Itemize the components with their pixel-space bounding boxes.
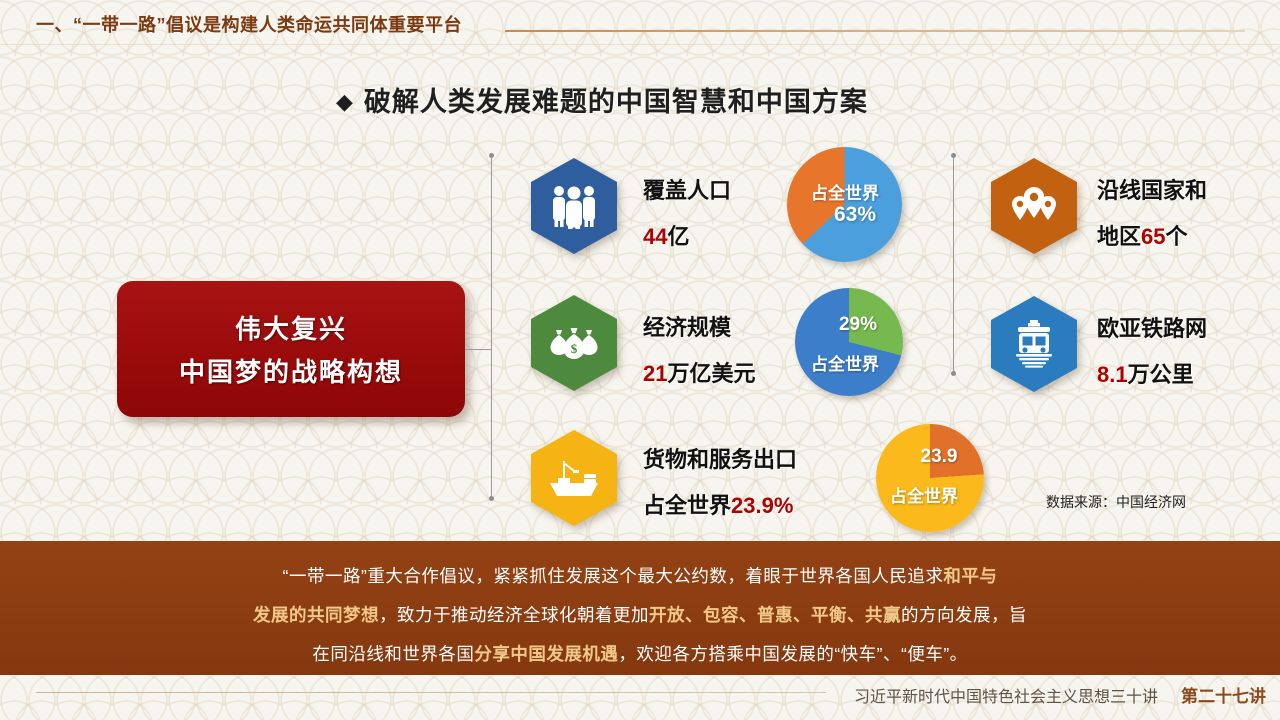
hexagon-badge: [991, 296, 1077, 392]
banner-text-plain: 在同沿线和世界各国: [312, 644, 474, 664]
banner-text-highlight: 发展的共同梦想: [253, 605, 379, 625]
connector-card-to-spine: [465, 349, 491, 350]
stat-label-line1: 经济规模: [643, 310, 756, 342]
banner-line-3: 在同沿线和世界各国分享中国发展机遇，欢迎各方搭乘中国发展的“快车”、“便车”。: [0, 635, 1280, 674]
svg-text:$: $: [571, 341, 578, 356]
stat-suffix: 个: [1166, 224, 1188, 249]
train-icon: [991, 296, 1077, 392]
footer-divider: [36, 692, 826, 693]
stat-label-line2: 21万亿美元: [643, 356, 756, 388]
connector-dot-bottom-right: [951, 371, 956, 376]
stat-label-line1: 欧亚铁路网: [1097, 311, 1207, 343]
connector-right-spine: [953, 155, 954, 375]
location-pins-icon: [991, 158, 1077, 254]
money-bags-icon: $: [531, 295, 617, 391]
summary-banner: “一带一路”重大合作倡议，紧紧抓住发展这个最大公约数，着眼于世界各国人民追求和平…: [0, 541, 1280, 675]
banner-text-plain: ，致力于推动经济全球化朝着更加: [379, 605, 649, 625]
stat-suffix: 万亿美元: [667, 361, 755, 386]
pie-value-label: 23.9: [904, 446, 974, 468]
banner-text-plain: ，欢迎各方搭乘中国发展的“快车”、“便车”。: [618, 644, 967, 664]
stat-prefix: 地区: [1097, 224, 1141, 249]
hexagon-badge: [531, 158, 617, 254]
strategy-card-line1: 伟大复兴: [235, 309, 347, 346]
stat-suffix: 万公里: [1128, 362, 1194, 387]
pie-chart-exports: 23.9 占全世界: [876, 424, 984, 532]
pie-value-label: 63%: [811, 203, 899, 227]
pie-name-label: 占全世界: [880, 482, 968, 507]
slide-header: 一、“一带一路”倡议是构建人类命运共同体重要平台: [0, 0, 1280, 46]
banner-text-plain: “一带一路”重大合作倡议，紧紧抓住发展这个最大公约数，着眼于世界各国人民追求: [283, 566, 944, 586]
pie-value-label: 29%: [821, 314, 895, 336]
strategy-card[interactable]: 伟大复兴 中国梦的战略构想: [117, 281, 465, 417]
stat-number: 65: [1141, 224, 1165, 249]
connector-left-spine: [491, 155, 492, 500]
stat-text-railway: 欧亚铁路网 8.1万公里: [1097, 311, 1207, 389]
stat-label-line1: 货物和服务出口: [643, 442, 797, 474]
stat-label-line2: 地区65个: [1097, 219, 1207, 251]
banner-line-2: 发展的共同梦想，致力于推动经济全球化朝着更加开放、包容、普惠、平衡、共赢的方向发…: [0, 596, 1280, 635]
stat-label-line2: 8.1万公里: [1097, 357, 1207, 389]
banner-text-plain: 的方向发展，旨: [901, 605, 1027, 625]
pie-chart-population: 占全世界 63%: [787, 147, 902, 262]
stat-label-line1: 沿线国家和: [1097, 173, 1207, 205]
hexagon-badge: $: [531, 295, 617, 391]
stat-label-line2: 44亿: [643, 219, 731, 251]
page-title: ◆破解人类发展难题的中国智慧和中国方案: [336, 80, 868, 119]
cargo-ship-icon: [531, 430, 617, 526]
people-icon: [531, 158, 617, 254]
header-underline: [0, 44, 1280, 45]
banner-text-highlight: 开放、包容、普惠、平衡、共赢: [649, 605, 901, 625]
stat-number: 21: [643, 361, 667, 386]
strategy-card-line2: 中国梦的战略构想: [179, 352, 403, 389]
pie-name-label: 占全世界: [801, 179, 889, 204]
connector-dot-bottom-left: [489, 496, 494, 501]
stat-text-population: 覆盖人口 44亿: [643, 173, 731, 251]
header-divider-line: [505, 30, 1245, 32]
banner-text-highlight: 和平与: [943, 566, 997, 586]
stat-suffix: 亿: [667, 224, 689, 249]
stat-number: 44: [643, 224, 667, 249]
data-source-note: 数据来源：中国经济网: [1046, 492, 1186, 512]
footer-lecture-badge: 第二十七讲: [1181, 682, 1266, 707]
section-title: 一、“一带一路”倡议是构建人类命运共同体重要平台: [36, 11, 462, 37]
stat-prefix: 占全世界: [643, 493, 731, 518]
stat-suffix: %: [774, 493, 794, 518]
connector-dot-top-left: [489, 153, 494, 158]
stat-text-exports: 货物和服务出口 占全世界23.9%: [643, 442, 797, 520]
stat-label-line1: 覆盖人口: [643, 173, 731, 205]
connector-dot-top-right: [951, 153, 956, 158]
stat-text-countries: 沿线国家和 地区65个: [1097, 173, 1207, 251]
stat-number: 8.1: [1097, 362, 1128, 387]
pie-name-label: 占全世界: [801, 350, 889, 375]
stat-label-line2: 占全世界23.9%: [643, 488, 797, 520]
stat-number: 23.9: [731, 493, 774, 518]
page-title-text: 破解人类发展难题的中国智慧和中国方案: [364, 87, 868, 117]
footer-series-title: 习近平新时代中国特色社会主义思想三十讲: [854, 683, 1158, 707]
stat-text-economy: 经济规模 21万亿美元: [643, 310, 756, 388]
hexagon-badge: [531, 430, 617, 526]
hexagon-badge: [991, 158, 1077, 254]
pie-chart-economy: 29% 占全世界: [795, 288, 903, 396]
diamond-bullet-icon: ◆: [336, 89, 354, 114]
banner-text-highlight: 分享中国发展机遇: [474, 644, 618, 664]
banner-line-1: “一带一路”重大合作倡议，紧紧抓住发展这个最大公约数，着眼于世界各国人民追求和平…: [0, 557, 1280, 596]
